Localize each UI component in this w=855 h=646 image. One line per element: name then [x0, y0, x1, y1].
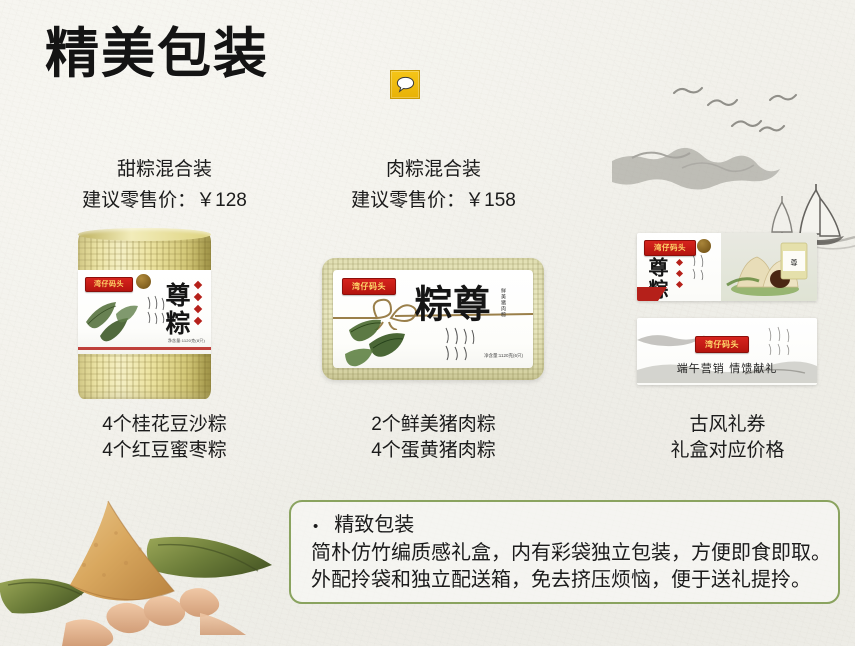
- column-2-price: 建议零售价：￥158: [320, 186, 547, 216]
- column-2-caption-line-1: 2个鲜美猪肉粽: [320, 412, 547, 438]
- label-red-stripe: [78, 347, 211, 350]
- decorative-diamonds: [675, 259, 685, 293]
- column-3-caption-line-2: 礼盒对应价格: [630, 438, 825, 464]
- voucher-card-top: 尊 湾仔码头 尊粽: [637, 233, 817, 301]
- column-1-caption-line-2: 4个红豆蜜枣粽: [52, 438, 277, 464]
- column-1-caption-line-1: 4个桂花豆沙粽: [52, 412, 277, 438]
- brand-badge: 湾仔码头: [342, 278, 396, 295]
- product-sub-text: 鲜美猪肉粽: [500, 288, 507, 318]
- callout-heading-row: • 精致包装: [313, 511, 414, 541]
- product-image-round-gift-box: 湾仔码头 尊粽: [78, 232, 211, 399]
- ink-wash-art: [612, 78, 855, 253]
- product-label-text: 尊粽: [411, 284, 487, 368]
- callout-line-1: 简朴仿竹编质感礼盒，内有彩袋独立包装，方便即食即取。: [311, 540, 831, 567]
- page-title: 精美包装: [45, 22, 269, 86]
- bullet-icon: •: [313, 513, 318, 541]
- seal-emblem-icon: [136, 274, 151, 289]
- zongzi-leaf-illustration: [82, 292, 144, 346]
- callout-heading: 精致包装: [334, 511, 414, 539]
- slide-canvas: 精美包装 甜粽混合装 建议零售价：￥128 湾仔码头: [0, 0, 855, 646]
- speech-bubble-glyph: [396, 76, 415, 93]
- product-label-text: 尊粽: [164, 282, 189, 338]
- seal-emblem-icon: [697, 239, 711, 253]
- column-1-title: 甜粽混合装: [52, 155, 277, 185]
- svg-text:尊: 尊: [791, 258, 798, 267]
- product-image-rect-gift-box: 湾仔码头: [322, 258, 544, 380]
- column-2-title: 肉粽混合装: [320, 155, 547, 185]
- calligraphy-strokes: [689, 253, 709, 285]
- column-1-price: 建议零售价：￥128: [52, 186, 277, 216]
- packaging-callout-box: • 精致包装 简朴仿竹编质感礼盒，内有彩袋独立包装，方便即食即取。 外配拎袋和独…: [289, 500, 840, 604]
- decorative-diamonds: [193, 280, 203, 332]
- brand-badge: 湾仔码头: [695, 336, 749, 353]
- product-image-gift-vouchers: 尊 湾仔码头 尊粽: [637, 233, 817, 385]
- column-2-caption-line-2: 4个蛋黄猪肉粽: [320, 438, 547, 464]
- net-weight-text: 净含量:1120克(6只): [484, 353, 523, 359]
- voucher-card-bottom: 湾仔码头 端午营销 情馈献礼: [637, 318, 817, 385]
- hand-holding-zongzi-photo: [0, 487, 282, 646]
- column-3-caption-line-1: 古风礼券: [630, 412, 825, 438]
- comment-icon[interactable]: [390, 70, 420, 99]
- net-weight-text: 净含量:1120克(8只): [168, 338, 205, 344]
- callout-line-2: 外配拎袋和独立配送箱，免去挤压烦恼，便于送礼提拎。: [311, 567, 811, 594]
- brand-badge: 湾仔码头: [85, 277, 133, 292]
- zongzi-photo: 尊: [725, 241, 811, 297]
- voucher-slogan: 端午营销 情馈献礼: [665, 360, 789, 376]
